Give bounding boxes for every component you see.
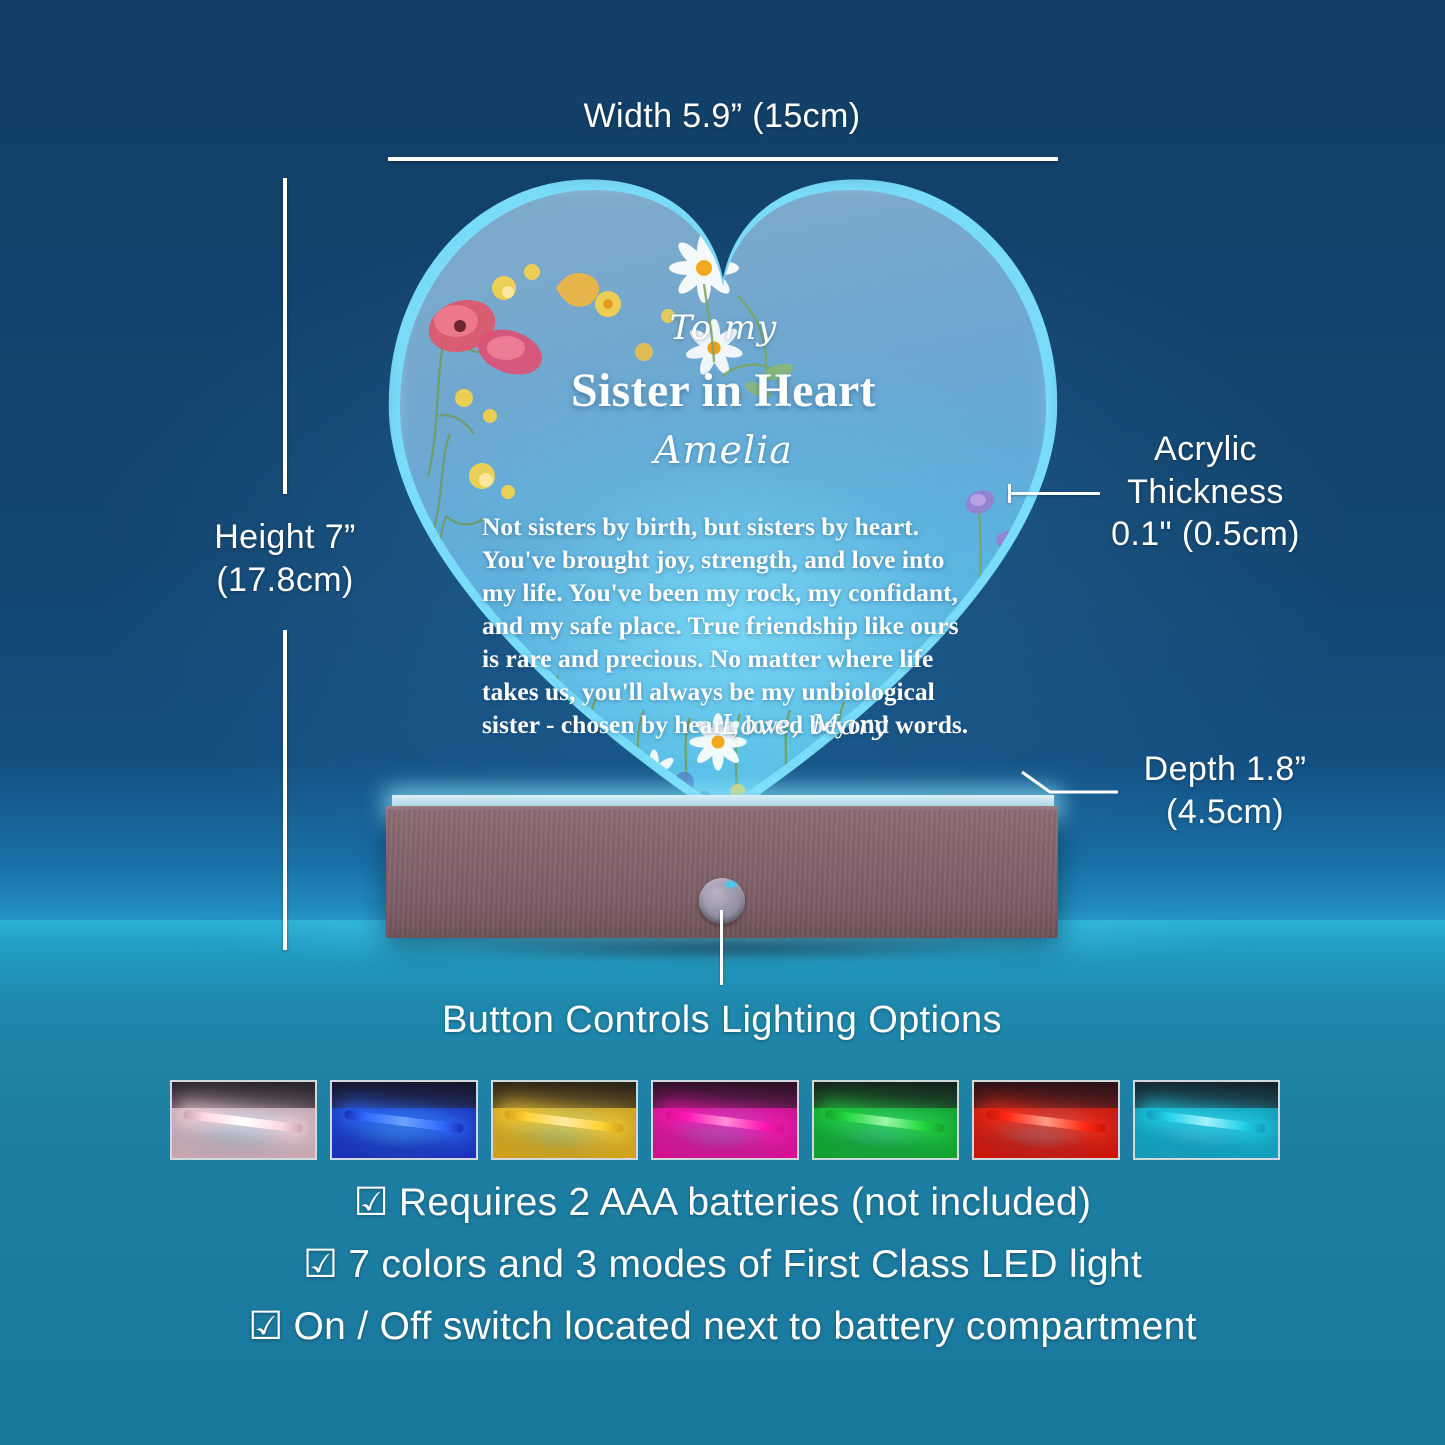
swatch-yellow[interactable] [491, 1080, 638, 1160]
width-dimension-rule [388, 157, 1058, 161]
swatch-led-bar [1146, 1110, 1267, 1134]
swatch-top-shade [1135, 1082, 1278, 1108]
plaque-signature: Love, Mary [645, 710, 965, 741]
swatch-led-bar [665, 1110, 786, 1134]
width-label: Width 5.9” (15cm) [422, 95, 1022, 138]
thickness-leader-tick [1008, 484, 1011, 503]
swatch-led-bar [825, 1110, 946, 1134]
swatch-green[interactable] [812, 1080, 959, 1160]
led-color-swatch-row [170, 1080, 1280, 1160]
height-dimension-rule-bottom [283, 630, 287, 950]
swatch-top-shade [172, 1082, 315, 1108]
feature-item-switch: ☑On / Off switch located next to battery… [0, 1296, 1445, 1358]
swatch-top-shade [493, 1082, 636, 1108]
acrylic-heart-plaque: To my Sister in Heart Amelia Not sisters… [386, 176, 1061, 808]
button-caption-leader-line [720, 910, 723, 985]
swatch-top-shade [332, 1082, 475, 1108]
swatch-red[interactable] [972, 1080, 1119, 1160]
feature-item-colors: ☑7 colors and 3 modes of First Class LED… [0, 1234, 1445, 1296]
feature-item-batteries: ☑Requires 2 AAA batteries (not included) [0, 1172, 1445, 1234]
checkbox-icon: ☑ [303, 1234, 338, 1296]
swatch-cyan[interactable] [1133, 1080, 1280, 1160]
feature-list: ☑Requires 2 AAA batteries (not included)… [0, 1172, 1445, 1358]
checkbox-icon: ☑ [248, 1296, 283, 1358]
swatch-led-bar [183, 1110, 304, 1134]
button-caption-label: Button Controls Lighting Options [222, 997, 1222, 1045]
plaque-title: Sister in Heart [386, 363, 1061, 418]
swatch-led-bar [344, 1110, 465, 1134]
swatch-led-bar [985, 1110, 1106, 1134]
checkbox-icon: ☑ [354, 1172, 389, 1234]
feature-text: 7 colors and 3 modes of First Class LED … [348, 1243, 1142, 1286]
plaque-message: Not sisters by birth, but sisters by hea… [482, 510, 972, 741]
swatch-white-pink[interactable] [170, 1080, 317, 1160]
swatch-led-bar [504, 1110, 625, 1134]
height-dimension-rule-top [283, 178, 287, 494]
plaque-recipient-name: Amelia [386, 428, 1061, 472]
swatch-top-shade [814, 1082, 957, 1108]
swatch-top-shade [653, 1082, 796, 1108]
swatch-blue[interactable] [330, 1080, 477, 1160]
swatch-top-shade [974, 1082, 1117, 1108]
swatch-magenta[interactable] [651, 1080, 798, 1160]
product-infographic: Width 5.9” (15cm) Height 7” (17.8cm) [0, 0, 1445, 1445]
acrylic-thickness-label: Acrylic Thickness 0.1" (0.5cm) [1078, 428, 1333, 556]
plaque-greeting: To my [386, 308, 1061, 348]
depth-label: Depth 1.8” (4.5cm) [1100, 748, 1350, 833]
feature-text: Requires 2 AAA batteries (not included) [399, 1181, 1091, 1224]
feature-text: On / Off switch located next to battery … [293, 1305, 1196, 1348]
